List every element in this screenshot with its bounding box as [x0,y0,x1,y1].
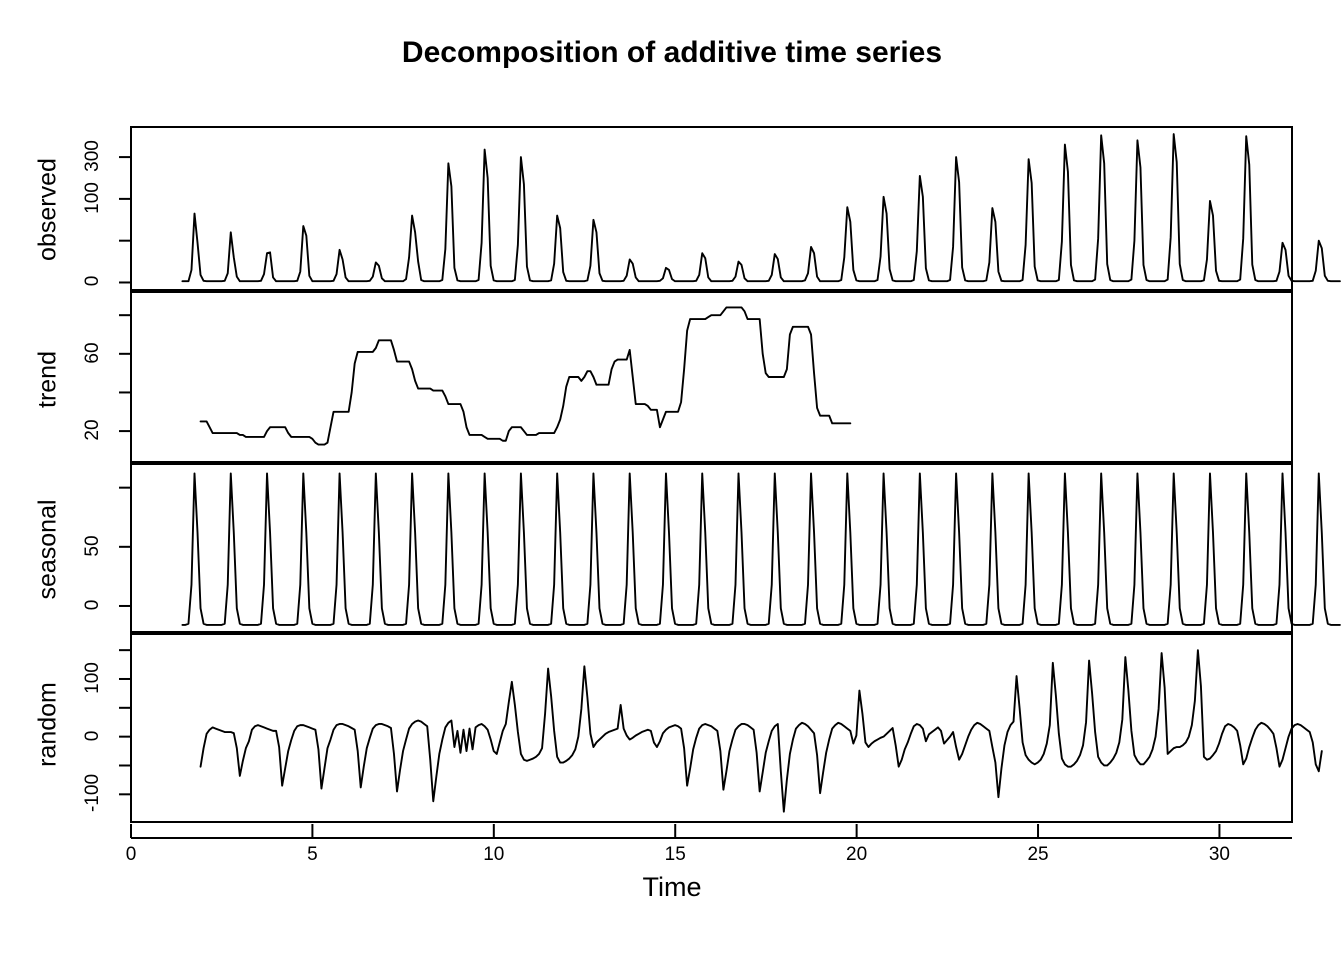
panel-frame-observed [131,127,1292,290]
panel-frame-random [131,634,1292,822]
plot-canvas [0,0,1344,960]
y-tick-label-random: 100 [82,638,104,718]
panel-frame-seasonal [131,464,1292,632]
x-tick-label: 30 [1189,844,1249,866]
x-tick-label: 5 [282,844,342,866]
x-tick-label: 0 [101,844,161,866]
series-line-random [201,650,1322,811]
y-tick-label-trend: 60 [82,313,104,393]
series-line-seasonal [182,473,1340,624]
y-tick-label-observed: 0 [82,241,104,321]
series-line-trend [201,307,851,444]
x-tick-label: 25 [1008,844,1068,866]
y-tick-label-seasonal: 50 [82,506,104,586]
x-tick-label: 15 [645,844,705,866]
y-tick-label-trend: 20 [82,390,104,470]
decomposition-figure: Decomposition of additive time series ob… [0,0,1344,960]
y-tick-label-observed: 300 [82,116,104,196]
x-tick-label: 10 [464,844,524,866]
series-line-observed [182,134,1340,281]
x-tick-label: 20 [827,844,887,866]
x-axis-title: Time [0,872,1344,903]
